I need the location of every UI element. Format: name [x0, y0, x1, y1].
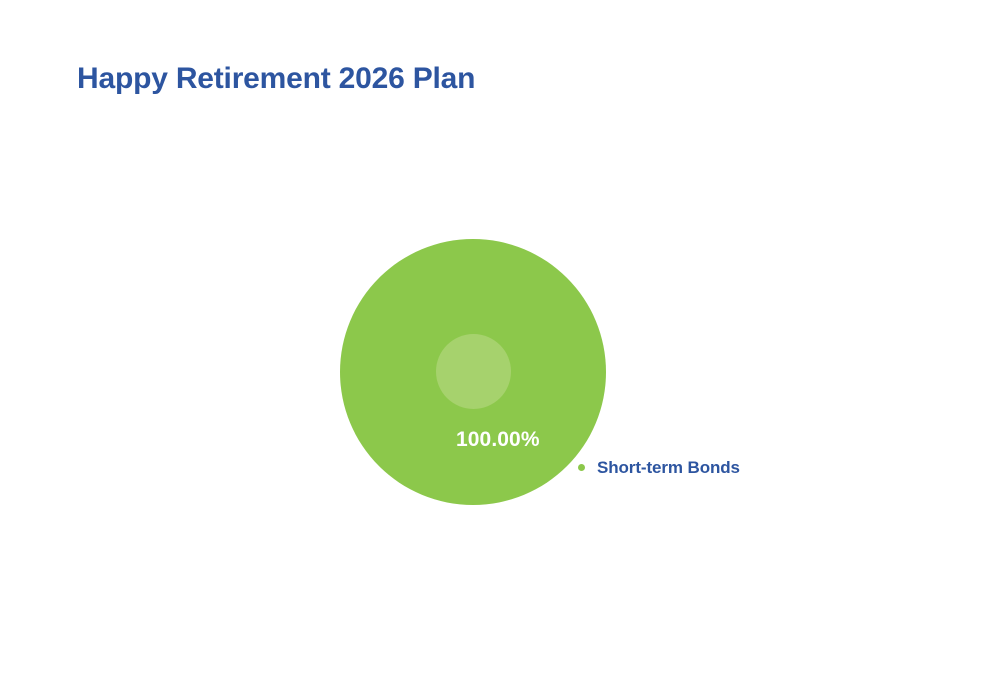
- pie-chart: [340, 239, 606, 505]
- pie-inner-accent-circle: [436, 334, 511, 409]
- chart-canvas: Happy Retirement 2026 Plan 100.00% Short…: [0, 0, 1000, 700]
- pie-slice-percent-label: 100.00%: [456, 428, 540, 452]
- chart-legend: Short-term Bonds: [578, 459, 740, 476]
- plot-area: 100.00% Short-term Bonds: [0, 0, 1000, 700]
- legend-dot-icon: [578, 464, 585, 471]
- legend-item-short-term-bonds[interactable]: Short-term Bonds: [578, 459, 740, 476]
- legend-item-label: Short-term Bonds: [597, 459, 740, 476]
